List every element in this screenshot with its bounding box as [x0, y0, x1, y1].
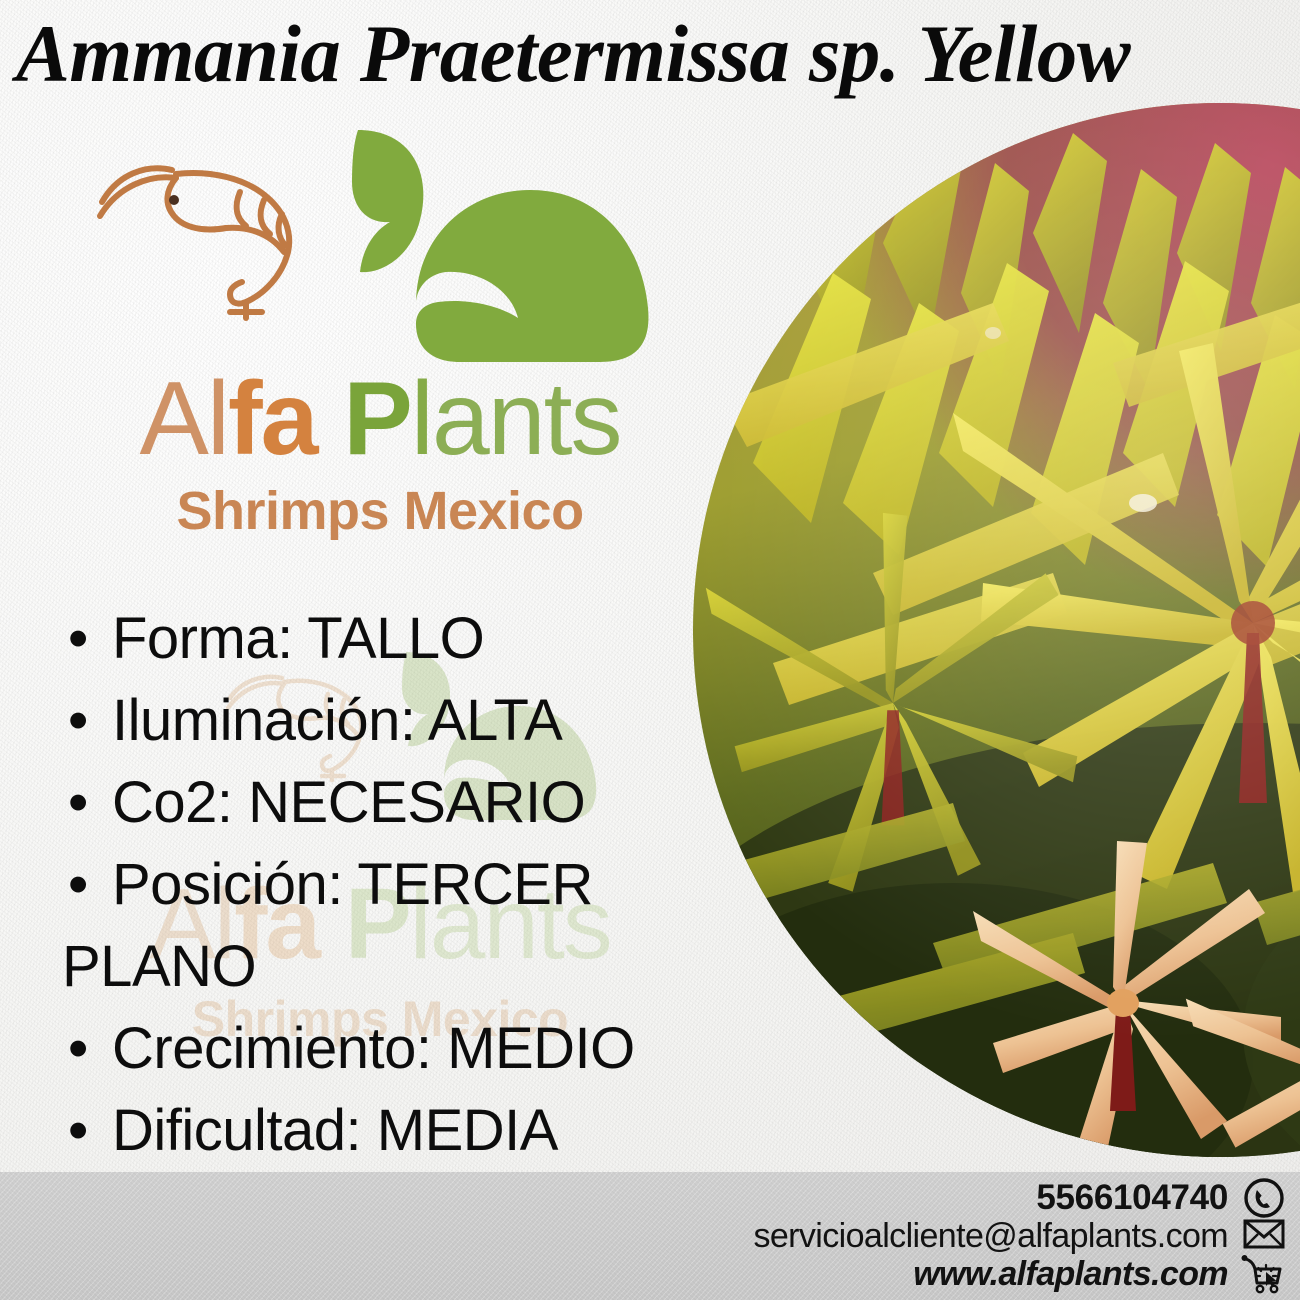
plant-photo: [693, 103, 1300, 1157]
spec-label: Dificultad:: [112, 1098, 361, 1163]
plant-spec-list: • Forma: TALLO • Iluminación: ALTA • Co2…: [56, 598, 696, 1172]
spec-value: TERCER: [357, 852, 592, 917]
list-item: • Iluminación: ALTA: [56, 680, 696, 762]
list-item: • Co2: NECESARIO: [56, 762, 696, 844]
spec-value: MEDIA: [377, 1098, 558, 1163]
logo-mark: [60, 112, 700, 372]
bullet-icon: •: [68, 598, 88, 680]
spec-label: Co2:: [112, 770, 233, 835]
bullet-icon: •: [68, 1008, 88, 1090]
spec-value-continuation: PLANO: [56, 926, 696, 1008]
list-item: • Posición: TERCER: [56, 844, 696, 926]
bullet-icon: •: [68, 762, 88, 844]
contact-footer: 5566104740 servicioalcliente@alfaplants.…: [0, 1172, 1300, 1300]
spec-value: ALTA: [428, 688, 562, 753]
spec-value: MEDIO: [447, 1016, 635, 1081]
logo-word-al: Al: [140, 361, 228, 477]
list-item: • Crecimiento: MEDIO: [56, 1008, 696, 1090]
spec-value: NECESARIO: [248, 770, 585, 835]
bullet-icon: •: [68, 1090, 88, 1172]
contact-phone[interactable]: 5566104740: [1036, 1178, 1228, 1218]
logo-tagline: Shrimps Mexico: [60, 480, 700, 542]
spec-label: Forma:: [112, 606, 293, 671]
shrimp-eye-icon: [169, 195, 179, 205]
contact-email[interactable]: servicioalcliente@alfaplants.com: [753, 1216, 1228, 1256]
bullet-icon: •: [68, 680, 88, 762]
leaf-icon: [352, 130, 423, 272]
brand-logo: Alfa Plants Shrimps Mexico: [60, 112, 700, 582]
list-item: • Forma: TALLO: [56, 598, 696, 680]
leaf-icon: [416, 190, 648, 362]
logo-wordmark: Alfa Plants: [60, 364, 700, 474]
spec-label: Crecimiento:: [112, 1016, 432, 1081]
bullet-icon: •: [68, 844, 88, 926]
logo-word-l: l: [411, 361, 432, 477]
spec-label: Iluminación:: [112, 688, 415, 753]
page-title: Ammania Praetermissa sp. Yellow: [16, 8, 1265, 100]
logo-word-p: P: [343, 361, 410, 477]
spec-label: Posición:: [112, 852, 343, 917]
shrimp-icon: [100, 168, 289, 318]
logo-word-fa: fa: [228, 361, 316, 477]
spec-value: TALLO: [307, 606, 484, 671]
list-item: • Dificultad: MEDIA: [56, 1090, 696, 1172]
envelope-icon[interactable]: [1242, 1216, 1286, 1257]
contact-website[interactable]: www.alfaplants.com: [913, 1254, 1228, 1294]
shopping-cart-icon[interactable]: [1240, 1252, 1286, 1300]
logo-word-ants: ants: [432, 361, 621, 477]
poster-canvas: Ammania Praetermissa sp. Yellow: [0, 0, 1300, 1300]
